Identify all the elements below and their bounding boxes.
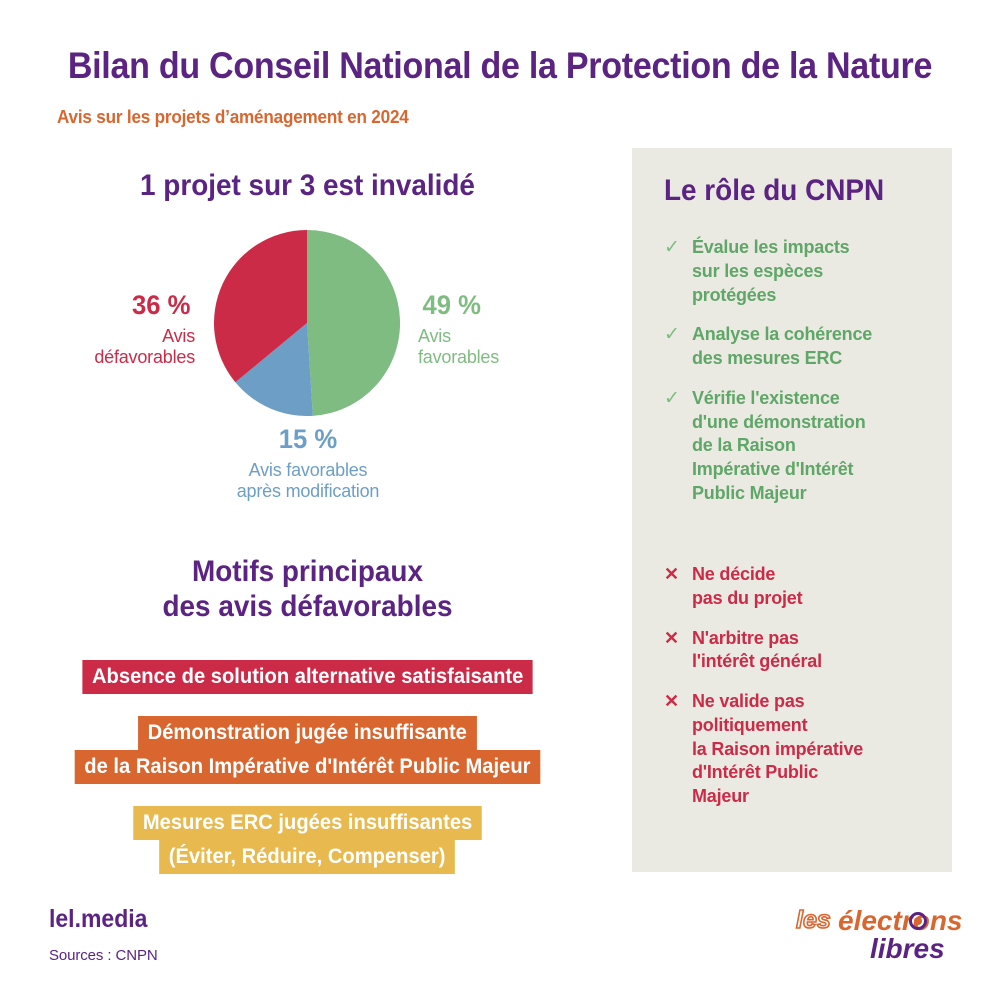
role-item-line: Ne valide pas: [692, 690, 863, 714]
role-does-not-list: ✕Ne décidepas du projet✕N'arbitre pasl'i…: [664, 563, 934, 809]
role-item-line: l'intérêt général: [692, 650, 822, 674]
pie-label-defavorables-desc1: Avis: [15, 326, 195, 347]
role-item-text: Vérifie l'existenced'une démonstrationde…: [692, 387, 865, 506]
role-item-line: Impérative d'Intérêt: [692, 458, 865, 482]
cross-icon: ✕: [664, 563, 692, 586]
motif-bar: Démonstration jugée insuffisantede la Ra…: [0, 716, 615, 784]
pie-label-favorables-pct: 49 %: [423, 290, 594, 322]
footer-sources: Sources : CNPN: [49, 947, 158, 964]
role-item-line: pas du projet: [692, 587, 802, 611]
motif-bar: Mesures ERC jugées insuffisantes(Éviter,…: [0, 806, 615, 874]
role-item-line: Vérifie l'existence: [692, 387, 865, 411]
pie-label-modification: 15 % Avis favorables après modification: [108, 424, 508, 502]
motif-bar-line: Démonstration jugée insuffisante: [0, 716, 615, 750]
pie-label-favorables-desc2: favorables: [418, 347, 598, 368]
role-item-line: N'arbitre pas: [692, 627, 822, 651]
logo-word-electrons: électrons: [838, 905, 963, 936]
check-icon: ✓: [664, 236, 692, 259]
logo-svg: les électrons libres: [790, 900, 970, 962]
motif-bar-line: Mesures ERC jugées insuffisantes: [0, 806, 615, 840]
pie-section-title: 1 projet sur 3 est invalidé: [22, 169, 594, 204]
check-icon: ✓: [664, 387, 692, 410]
role-panel: Le rôle du CNPN ✓Évalue les impactssur l…: [632, 148, 952, 872]
pie-label-modification-pct: 15 %: [118, 424, 498, 456]
motif-bar-line-text: Absence de solution alternative satisfai…: [82, 660, 533, 694]
role-item-line: des mesures ERC: [692, 347, 872, 371]
role-panel-title: Le rôle du CNPN: [664, 174, 884, 208]
role-item-line: Ne décide: [692, 563, 802, 587]
role-item-line: Majeur: [692, 785, 863, 809]
role-item-line: d'Intérêt Public: [692, 761, 863, 785]
role-item-text: Évalue les impactssur les espècesprotégé…: [692, 236, 850, 307]
motif-bar-line: (Éviter, Réduire, Compenser): [0, 840, 615, 874]
role-item: ✓Vérifie l'existenced'une démonstrationd…: [664, 387, 934, 506]
les-electrons-libres-logo: les électrons libres: [790, 900, 970, 962]
logo-o-dot: [914, 917, 922, 925]
motif-bar: Absence de solution alternative satisfai…: [0, 660, 615, 694]
role-item-line: d'une démonstration: [692, 411, 865, 435]
motifs-title-line2: des avis défavorables: [22, 590, 594, 625]
role-item-line: de la Raison: [692, 434, 865, 458]
pie-label-defavorables-desc2: défavorables: [15, 347, 195, 368]
role-item-line: la Raison impérative: [692, 738, 863, 762]
pie-label-modification-desc1: Avis favorables: [108, 460, 508, 481]
role-item-line: Analyse la cohérence: [692, 323, 872, 347]
motif-bar-line-text: Mesures ERC jugées insuffisantes: [133, 806, 482, 840]
role-item-text: Ne décidepas du projet: [692, 563, 802, 611]
cross-icon: ✕: [664, 627, 692, 650]
role-item-text: N'arbitre pasl'intérêt général: [692, 627, 822, 675]
footer-brand: lel.media: [49, 905, 147, 934]
pie-label-favorables: 49 % Avis favorables: [418, 290, 598, 368]
pie-chart: [214, 230, 400, 416]
role-item-line: Évalue les impacts: [692, 236, 850, 260]
motifs-section-title: Motifs principaux des avis défavorables: [22, 555, 594, 625]
motif-bar-line: de la Raison Impérative d'Intérêt Public…: [0, 750, 615, 784]
role-does-list: ✓Évalue les impactssur les espècesprotég…: [664, 236, 934, 506]
pie-label-defavorables: 36 % Avis défavorables: [15, 290, 195, 368]
check-icon: ✓: [664, 323, 692, 346]
motif-bar-line-text: (Éviter, Réduire, Compenser): [160, 840, 456, 874]
page-title: Bilan du Conseil National de la Protecti…: [40, 45, 960, 87]
motifs-title-line1: Motifs principaux: [22, 555, 594, 590]
pie-label-modification-desc2: après modification: [108, 481, 508, 502]
role-item-line: Public Majeur: [692, 482, 865, 506]
motif-bar-line: Absence de solution alternative satisfai…: [0, 660, 615, 694]
role-item-text: Ne valide paspolitiquementla Raison impé…: [692, 690, 863, 809]
motif-bar-line-text: Démonstration jugée insuffisante: [138, 716, 476, 750]
role-item: ✕Ne décidepas du projet: [664, 563, 934, 611]
role-item: ✓Analyse la cohérencedes mesures ERC: [664, 323, 934, 371]
role-item: ✕Ne valide paspolitiquementla Raison imp…: [664, 690, 934, 809]
motifs-bar-list: Absence de solution alternative satisfai…: [0, 660, 615, 874]
role-item: ✓Évalue les impactssur les espècesprotég…: [664, 236, 934, 307]
pie-label-defavorables-pct: 36 %: [20, 290, 191, 322]
logo-word-les: les: [796, 906, 831, 934]
role-item-text: Analyse la cohérencedes mesures ERC: [692, 323, 872, 371]
role-item: ✕N'arbitre pasl'intérêt général: [664, 627, 934, 675]
motif-bar-line-text: de la Raison Impérative d'Intérêt Public…: [75, 750, 540, 784]
logo-word-libres: libres: [870, 933, 945, 962]
role-item-line: politiquement: [692, 714, 863, 738]
pie-chart-svg: [214, 230, 400, 416]
page-subtitle: Avis sur les projets d’aménagement en 20…: [57, 107, 409, 128]
role-item-line: protégées: [692, 284, 850, 308]
pie-slice: [307, 230, 400, 416]
pie-label-favorables-desc1: Avis: [418, 326, 598, 347]
role-item-line: sur les espèces: [692, 260, 850, 284]
cross-icon: ✕: [664, 690, 692, 713]
